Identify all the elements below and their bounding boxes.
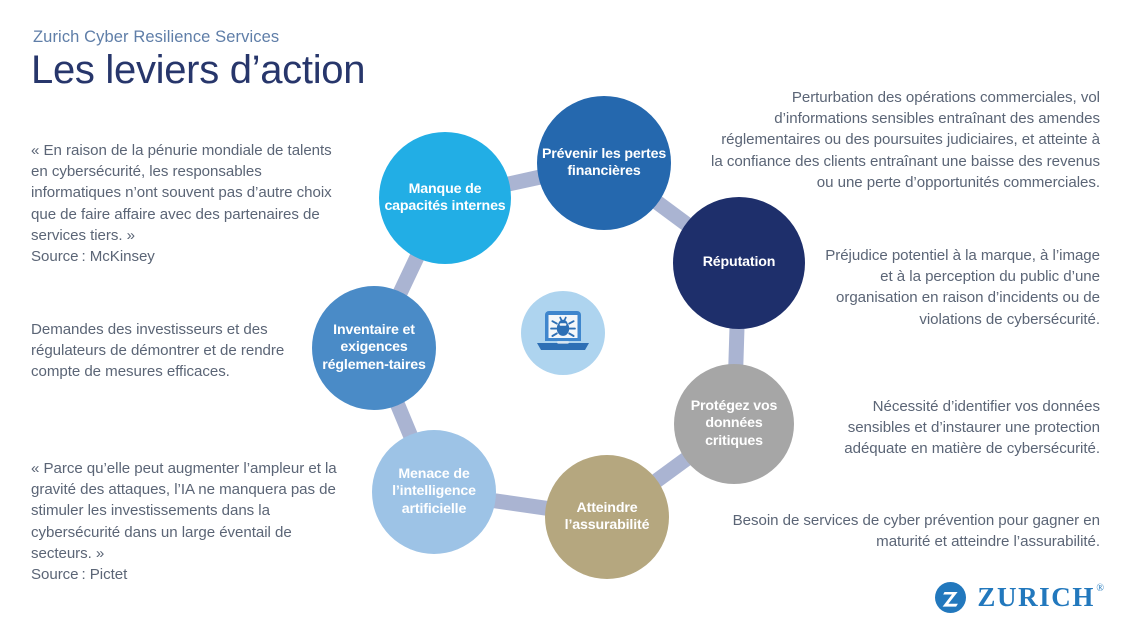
- node-label: Menace de l’intelligence artificielle: [376, 466, 492, 518]
- node-label: Prévenir les pertes financières: [541, 146, 667, 181]
- note-investors: Demandes des investisseurs et des régula…: [31, 319, 331, 383]
- zurich-logo: ZURICH ®: [935, 582, 1095, 613]
- cycle-diagram: Manque de capacités internesPrévenir les…: [300, 85, 825, 595]
- zurich-mark-icon: [935, 582, 966, 613]
- node-label: Atteindre l’assurabilité: [549, 500, 665, 535]
- node-donnees-critiques[interactable]: Protégez vos données critiques: [674, 364, 794, 484]
- zurich-z-glyph: [938, 585, 964, 611]
- node-assurabilite[interactable]: Atteindre l’assurabilité: [545, 455, 669, 579]
- connector-reputation-to-donnees-critiques: [736, 323, 737, 370]
- connector-donnees-critiques-to-assurabilite: [652, 456, 690, 484]
- laptop-bug-icon: [535, 310, 591, 356]
- connector-inventaire-to-manque-capacites: [398, 252, 419, 297]
- zurich-wordmark-text: ZURICH: [977, 582, 1095, 612]
- node-label: Réputation: [677, 254, 801, 271]
- note-reputation: Préjudice potentiel à la marque, à l’ima…: [825, 245, 1100, 330]
- node-label: Protégez vos données critiques: [678, 398, 790, 450]
- connector-assurabilite-to-menace-ia: [489, 500, 551, 509]
- node-label: Manque de capacités internes: [383, 181, 507, 216]
- eyebrow-text: Zurich Cyber Resilience Services: [33, 28, 279, 47]
- note-critical-data: Nécessité d’identifier vos données sensi…: [825, 396, 1100, 460]
- node-pertes-financieres[interactable]: Prévenir les pertes financières: [537, 96, 671, 230]
- zurich-trademark: ®: [1096, 583, 1104, 594]
- hub-circle: [521, 291, 605, 375]
- node-label: Inventaire et exigences réglemen-taires: [316, 322, 432, 374]
- note-investors-body: Demandes des investisseurs et des régula…: [31, 319, 331, 383]
- node-manque-capacites[interactable]: Manque de capacités internes: [379, 132, 511, 264]
- node-reputation[interactable]: Réputation: [673, 197, 805, 329]
- zurich-wordmark: ZURICH ®: [977, 582, 1095, 613]
- node-inventaire[interactable]: Inventaire et exigences réglemen-taires: [312, 286, 436, 410]
- node-menace-ia[interactable]: Menace de l’intelligence artificielle: [372, 430, 496, 554]
- slide-canvas: Zurich Cyber Resilience Services Les lev…: [0, 0, 1125, 632]
